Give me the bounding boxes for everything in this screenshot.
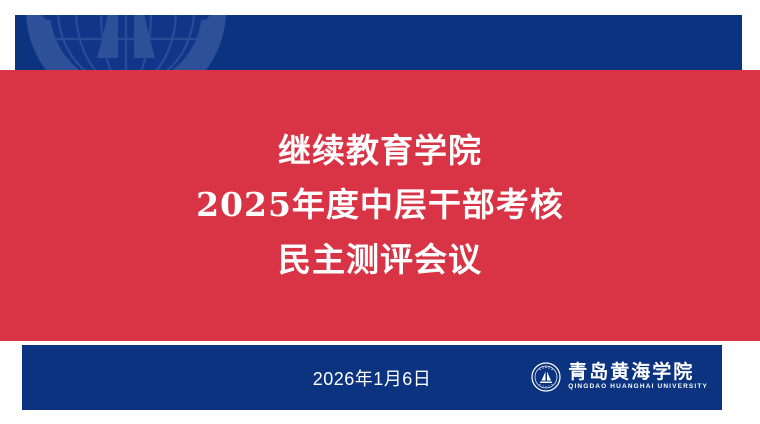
red-title-banner: 继续教育学院 2025年度中层干部考核 民主测评会议: [0, 70, 760, 341]
footer-bar: 2026年1月6日: [22, 345, 722, 410]
slide-title-block: 继续教育学院 2025年度中层干部考核 民主测评会议: [0, 70, 760, 341]
title-line-1: 继续教育学院: [278, 134, 482, 169]
title-line-3: 民主测评会议: [278, 243, 482, 278]
header-bar: [15, 15, 742, 71]
qingdao-huanghai-university-seal-icon: [531, 362, 561, 392]
university-logo-text: 青岛黄海学院 QINGDAO HUANGHAI UNIVERSITY: [568, 363, 708, 391]
university-seal-globe-watermark-icon: [19, 15, 233, 71]
university-logo: 青岛黄海学院 QINGDAO HUANGHAI UNIVERSITY: [531, 354, 708, 400]
university-name-en: QINGDAO HUANGHAI UNIVERSITY: [568, 384, 708, 391]
university-name-cn: 青岛黄海学院: [568, 363, 708, 382]
presentation-slide: 继续教育学院 2025年度中层干部考核 民主测评会议 2026年1月6日: [0, 0, 760, 424]
title-line-2: 2025年度中层干部考核: [196, 188, 564, 223]
